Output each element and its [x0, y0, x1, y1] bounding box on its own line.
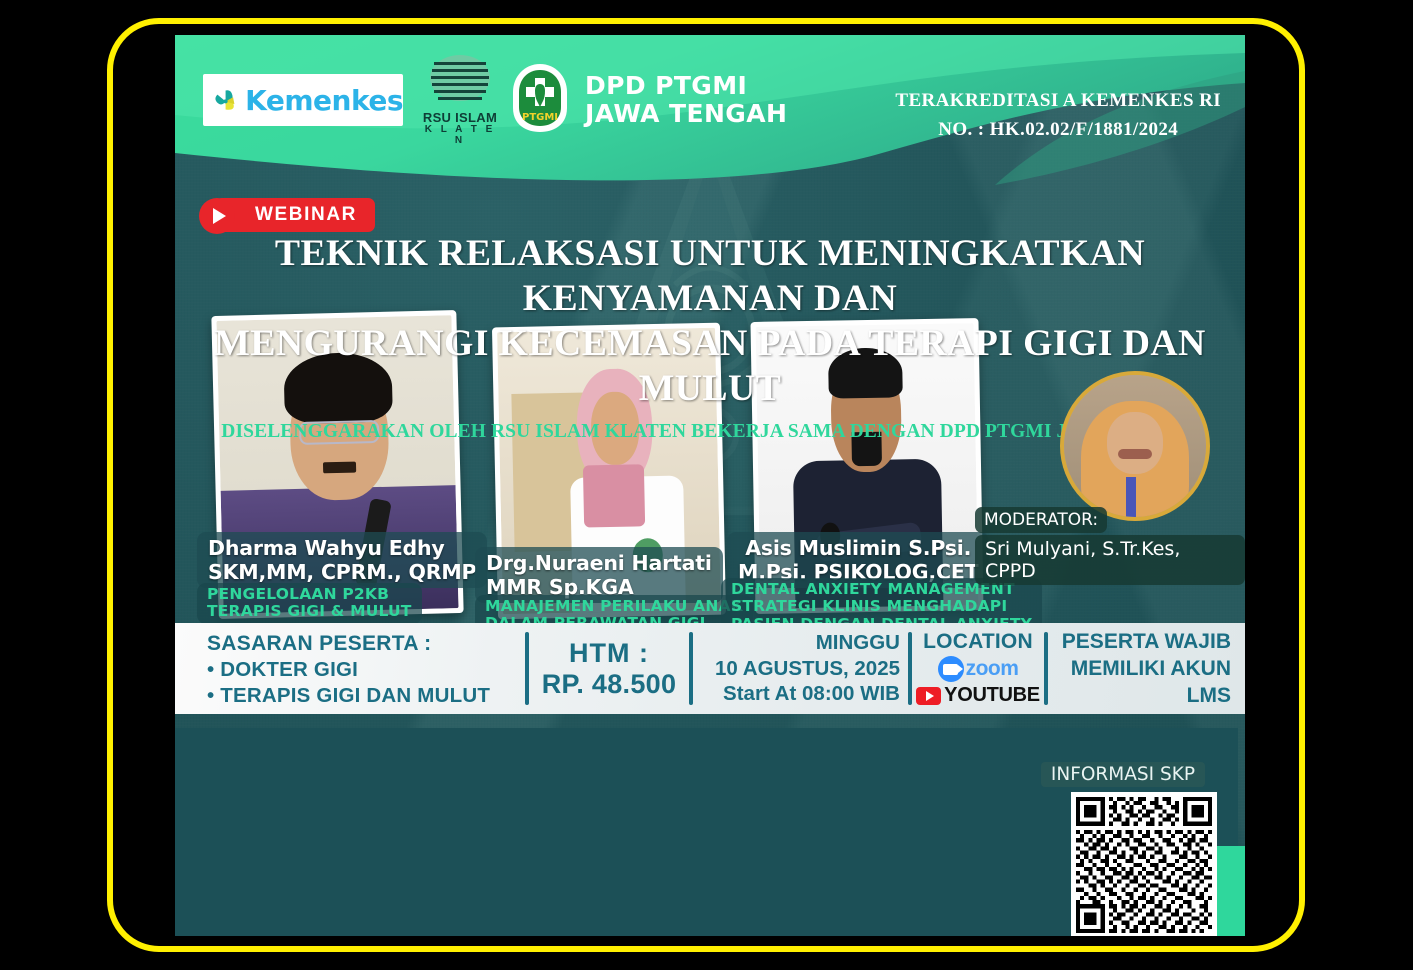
speaker-1-name-line2: SKM,MM, CPRM., QRMP — [208, 560, 476, 584]
rsu-name: RSU ISLAM — [419, 111, 501, 125]
fee-label: HTM : — [569, 638, 649, 669]
requirement-line-3: LMS — [1187, 682, 1231, 709]
moderator-label: MODERATOR: — [975, 507, 1107, 533]
title-line-1: TEKNIK RELAKSASI UNTUK MENINGKATKAN KENY… — [175, 231, 1245, 321]
audience-section: SASARAN PESERTA : • DOKTER GIGI • TERAPI… — [175, 623, 525, 714]
start-time: Start At 08:00 WIB — [723, 681, 900, 707]
requirement-section: PESERTA WAJIB MEMILIKI AKUN LMS — [1048, 623, 1245, 714]
date-day: MINGGU — [816, 630, 900, 656]
speaker-1-topic-line1: PENGELOLAAN P2KB — [207, 586, 412, 603]
requirement-line-1: PESERTA WAJIB — [1062, 628, 1231, 655]
rsu-building-icon — [424, 54, 496, 106]
kemenkes-wordmark: Kemenkes — [245, 84, 403, 117]
organizer-name: DPD PTGMI JAWA TENGAH — [585, 72, 787, 128]
qr-code-icon — [1076, 797, 1212, 933]
location-label: LOCATION — [923, 630, 1033, 654]
audience-title: SASARAN PESERTA : — [207, 632, 525, 656]
speaker-1-topic-line2: TERAPIS GIGI & MULUT — [207, 603, 412, 620]
ptgmi-logo: PTGMI — [511, 62, 573, 139]
youtube-platform: YOUTUBE — [916, 684, 1040, 707]
audience-item-2-label: TERAPIS GIGI DAN MULUT — [220, 684, 490, 707]
date-full: 10 AGUSTUS, 2025 — [715, 656, 900, 682]
speaker-1-topic: PENGELOLAAN P2KB TERAPIS GIGI & MULUT — [197, 583, 422, 624]
poster-root: Kemenkes RSU ISLAM K L A T E N — [0, 0, 1413, 970]
moderator-name: Sri Mulyani, S.Tr.Kes, CPPD — [975, 535, 1245, 585]
play-icon — [199, 198, 235, 234]
fee-amount: RP. 48.500 — [542, 669, 677, 700]
date-section: MINGGU 10 AGUSTUS, 2025 Start At 08:00 W… — [693, 623, 908, 714]
accreditation-line1: TERAKREDITASI A KEMENKES RI — [895, 87, 1221, 116]
kemenkes-mark-icon — [212, 80, 239, 120]
webinar-badge-label: WEBINAR — [215, 198, 375, 232]
info-bar: SASARAN PESERTA : • DOKTER GIGI • TERAPI… — [175, 623, 1245, 714]
kemenkes-logo: Kemenkes — [203, 74, 403, 126]
audience-item-2: • TERAPIS GIGI DAN MULUT — [207, 684, 525, 708]
qr-code[interactable] — [1071, 792, 1217, 936]
zoom-label: zoom — [966, 657, 1019, 681]
speaker-1-name-line1: Dharma Wahyu Edhy — [208, 536, 476, 560]
youtube-label: YOUTUBE — [944, 684, 1040, 707]
speaker-2-topic-line1: MANAJEMEN PERILAKU ANAK — [485, 598, 743, 615]
speaker-3-topic-line2: STRATEGI KLINIS MENGHADAPI — [731, 598, 1032, 615]
rsu-islam-logo: RSU ISLAM K L A T E N — [419, 54, 501, 147]
organizer-line2: JAWA TENGAH — [585, 100, 787, 128]
bottom-panel: INFORMASI SKP — [175, 716, 1245, 936]
speaker-3-name-line1: Asis Muslimin S.Psi. — [738, 536, 978, 560]
svg-text:PTGMI: PTGMI — [522, 112, 558, 123]
accreditation-block: TERAKREDITASI A KEMENKES RI NO. : HK.02.… — [895, 87, 1221, 144]
moderator-avatar — [1060, 371, 1210, 521]
speaker-1-name: Dharma Wahyu Edhy SKM,MM, CPRM., QRMP — [197, 532, 487, 588]
youtube-icon — [916, 687, 941, 705]
requirement-line-2: MEMILIKI AKUN — [1071, 655, 1231, 682]
organizer-line1: DPD PTGMI — [585, 72, 787, 100]
audience-item-1: • DOKTER GIGI — [207, 658, 525, 682]
rsu-city: K L A T E N — [419, 124, 501, 146]
qr-label: INFORMASI SKP — [1041, 762, 1205, 787]
accreditation-line2: NO. : HK.02.02/F/1881/2024 — [895, 116, 1221, 145]
audience-item-1-label: DOKTER GIGI — [220, 658, 358, 681]
speaker-2-name-line1: Drg.Nuraeni Hartati — [486, 551, 712, 575]
poster-canvas: Kemenkes RSU ISLAM K L A T E N — [175, 35, 1245, 936]
webinar-badge: WEBINAR — [199, 198, 375, 232]
zoom-icon — [938, 656, 964, 682]
ptgmi-shield-icon: PTGMI — [511, 62, 569, 134]
location-section: LOCATION zoom YOUTUBE — [912, 623, 1044, 714]
zoom-platform: zoom — [938, 656, 1019, 682]
fee-section: HTM : RP. 48.500 — [529, 623, 689, 714]
